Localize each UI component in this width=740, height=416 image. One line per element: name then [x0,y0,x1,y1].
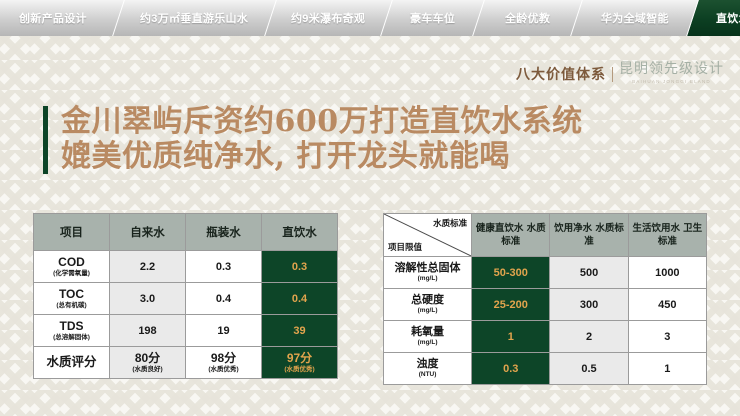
left-row0-item: COD (化学需氧量) [34,251,110,283]
left-row2-bottled: 19 [186,315,262,347]
left-row1-item: TOC (总有机碳) [34,283,110,315]
right-header-purified: 饮用净水 水质标准 [550,214,628,257]
brand-divider [612,67,613,82]
table-row-header: 项目 自来水 瓶装水 直饮水 [34,214,338,251]
headline-block: 金川翠屿斥资约600万打造直饮水系统 媲美优质纯净水, 打开龙头就能喝 [43,104,583,174]
right-row3-purified: 0.5 [550,353,628,385]
nav-tab-2-label: 约9米瀑布奇观 [291,10,365,26]
table-row: 浊度 (NTU) 0.3 0.5 1 [384,353,707,385]
top-navigation: 创新产品设计 约3万㎡垂直游乐山水 约9米瀑布奇观 豪车车位 全龄优教 华为全域… [0,0,740,36]
headline-line-2: 媲美优质纯净水, 打开龙头就能喝 [61,139,583,174]
right-corner-top-label: 水质标准 [433,217,467,229]
left-row2-item-name: TDS [34,320,109,334]
left-row3-direct-sub: (水质优秀) [262,366,337,373]
nav-tab-1[interactable]: 约3万㎡垂直游乐山水 [112,0,276,36]
left-row3-bottled: 98分 (水质优秀) [186,347,262,379]
table-row: TDS (总溶解固体) 198 19 39 [34,315,338,347]
table-row: 耗氧量 (mg/L) 1 2 3 [384,321,707,353]
right-row3-item-name: 浊度 [384,358,471,371]
nav-tab-3-label: 豪车车位 [410,10,455,26]
right-row2-item-unit: (mg/L) [384,339,471,346]
nav-tab-0-label: 创新产品设计 [19,10,87,26]
left-header-bottled: 瓶装水 [186,214,262,251]
left-row3-item-name: 水质评分 [34,355,109,369]
right-row0-item-unit: (mg/L) [384,275,471,282]
right-row0-item: 溶解性总固体 (mg/L) [384,257,472,289]
left-row3-item: 水质评分 [34,347,110,379]
left-row3-direct-value: 97分 [262,352,337,366]
right-row1-item-name: 总硬度 [384,294,471,307]
table-row-header: 水质标准 项目限值 健康直饮水 水质标准 饮用净水 水质标准 生活饮用水 卫生标… [384,214,707,257]
nav-tab-2[interactable]: 约9米瀑布奇观 [264,0,392,36]
left-row0-item-sub: (化学需氧量) [34,270,109,277]
left-row3-bottled-sub: (水质优秀) [186,366,261,373]
page-title: 金川翠屿斥资约600万打造直饮水系统 媲美优质纯净水, 打开龙头就能喝 [61,104,583,174]
table-row: 溶解性总固体 (mg/L) 50-300 500 1000 [384,257,707,289]
left-header-tap: 自来水 [110,214,186,251]
right-row3-domestic: 1 [628,353,706,385]
brand-main-text: 八大价值体系 [516,64,606,84]
nav-tab-5-label: 华为全域智能 [601,10,669,26]
right-corner-cell: 水质标准 项目限值 [384,214,472,257]
right-header-healthy-l1: 健康直饮水 [476,223,524,234]
right-row3-healthy: 0.3 [472,353,550,385]
right-row0-healthy: 50-300 [472,257,550,289]
left-row2-tap: 198 [110,315,186,347]
left-row1-tap: 3.0 [110,283,186,315]
water-standards-table: 水质标准 项目限值 健康直饮水 水质标准 饮用净水 水质标准 生活饮用水 卫生标… [383,213,707,385]
left-row3-tap: 80分 (水质良好) [110,347,186,379]
left-header-direct: 直饮水 [262,214,338,251]
left-row2-item-sub: (总溶解固体) [34,334,109,341]
brand-english-text: BAIHUAN JONGGI BLAND [632,79,711,84]
brand-mark: 八大价值体系 昆明领先级设计 BAIHUAN JONGGI BLAND [516,58,724,84]
left-row2-direct: 39 [262,315,338,347]
right-row0-domestic: 1000 [628,257,706,289]
water-comparison-table: 项目 自来水 瓶装水 直饮水 COD (化学需氧量) 2.2 0.3 0.3 T… [33,213,338,379]
right-row1-item-unit: (mg/L) [384,307,471,314]
headline-line-1: 金川翠屿斥资约600万打造直饮水系统 [61,104,583,139]
right-row2-healthy: 1 [472,321,550,353]
right-row0-purified: 500 [550,257,628,289]
right-row2-purified: 2 [550,321,628,353]
brand-right-group: 昆明领先级设计 BAIHUAN JONGGI BLAND [619,58,724,84]
right-row1-purified: 300 [550,289,628,321]
right-row1-healthy: 25-200 [472,289,550,321]
brand-sub-text: 昆明领先级设计 [619,58,724,78]
right-header-healthy: 健康直饮水 水质标准 [472,214,550,257]
nav-tab-6-label: 直饮水入户 [716,10,740,26]
left-row1-item-name: TOC [34,288,109,302]
right-row3-item: 浊度 (NTU) [384,353,472,385]
right-row2-item: 耗氧量 (mg/L) [384,321,472,353]
left-row1-item-sub: (总有机碳) [34,302,109,309]
right-row2-item-name: 耗氧量 [384,326,471,339]
left-row0-direct: 0.3 [262,251,338,283]
left-row3-direct: 97分 (水质优秀) [262,347,338,379]
left-row1-bottled: 0.4 [186,283,262,315]
right-row1-item: 总硬度 (mg/L) [384,289,472,321]
right-row2-domestic: 3 [628,321,706,353]
left-row0-tap: 2.2 [110,251,186,283]
table-row: 总硬度 (mg/L) 25-200 300 450 [384,289,707,321]
nav-tab-4[interactable]: 全龄优教 [472,0,582,36]
headline-accent-bar [43,106,48,174]
nav-tab-1-label: 约3万㎡垂直游乐山水 [140,10,248,26]
nav-tab-0[interactable]: 创新产品设计 [0,0,124,36]
left-row0-bottled: 0.3 [186,251,262,283]
right-row3-item-unit: (NTU) [384,371,471,378]
right-header-purified-l1: 饮用净水 [554,223,592,234]
right-row1-domestic: 450 [628,289,706,321]
nav-tab-5[interactable]: 华为全域智能 [570,0,698,36]
left-row3-tap-value: 80分 [110,352,185,366]
table-row: 水质评分 80分 (水质良好) 98分 (水质优秀) 97分 (水质优秀) [34,347,338,379]
nav-tab-4-label: 全龄优教 [505,10,550,26]
right-row0-item-name: 溶解性总固体 [384,262,471,275]
left-row1-direct: 0.4 [262,283,338,315]
left-header-item: 项目 [34,214,110,251]
right-header-domestic: 生活饮用水 卫生标准 [628,214,706,257]
nav-tab-3[interactable]: 豪车车位 [380,0,484,36]
left-row3-tap-sub: (水质良好) [110,366,185,373]
left-row3-bottled-value: 98分 [186,352,261,366]
table-row: TOC (总有机碳) 3.0 0.4 0.4 [34,283,338,315]
left-row0-item-name: COD [34,256,109,270]
right-corner-bottom-label: 项目限值 [388,241,422,253]
right-header-domestic-l1: 生活饮用水 [632,223,680,234]
table-row: COD (化学需氧量) 2.2 0.3 0.3 [34,251,338,283]
left-row2-item: TDS (总溶解固体) [34,315,110,347]
